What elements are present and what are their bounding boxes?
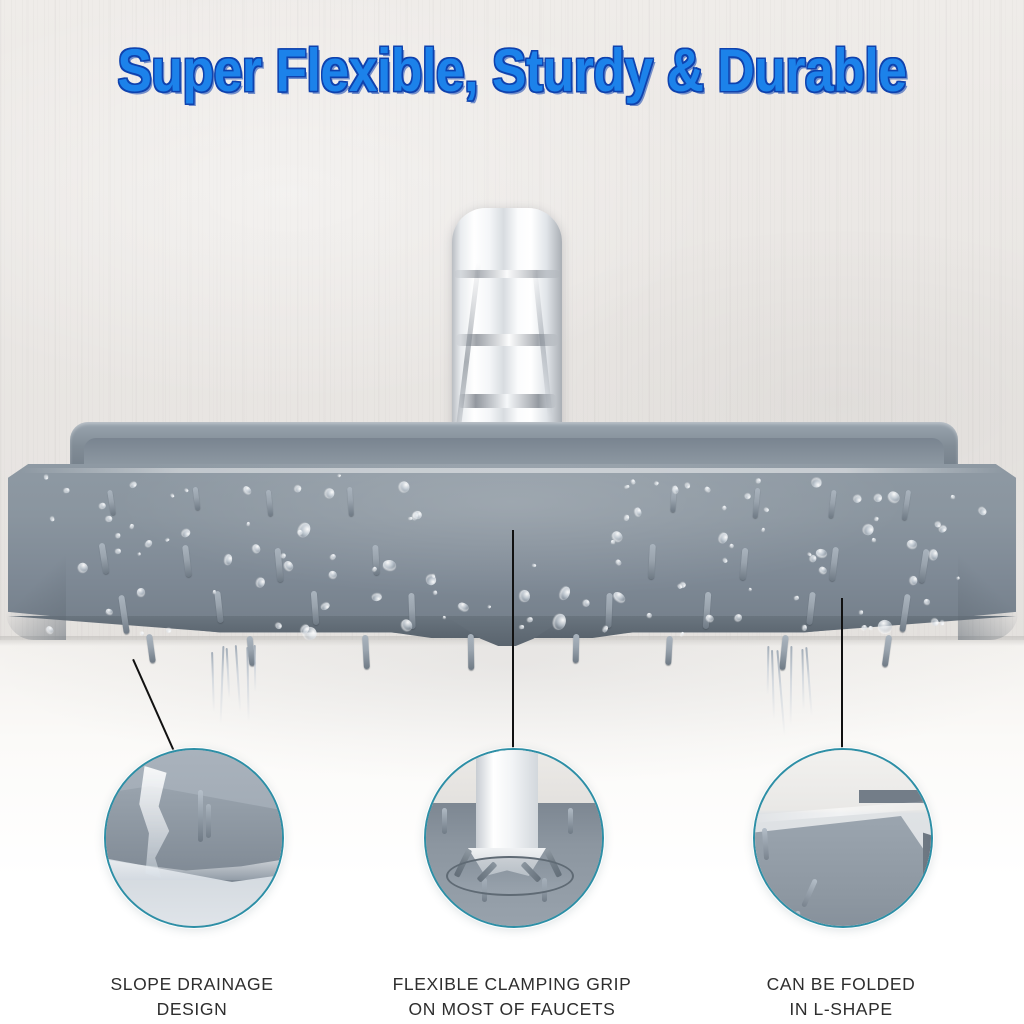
water-drip-stream (766, 646, 769, 695)
caption-slope-drainage: SLOPE DRAINAGE DESIGN (72, 972, 312, 1023)
water-droplet (117, 533, 121, 538)
water-droplet (583, 599, 590, 606)
callout-circle-folded-l-shape (753, 748, 933, 928)
callout1-nub (198, 790, 203, 842)
water-droplet (408, 516, 411, 519)
callout2-faucet-pipe (476, 750, 538, 858)
pointer-line-clamping-grip (512, 530, 514, 752)
water-droplet (957, 576, 960, 580)
mat-ridge-nub (468, 634, 475, 670)
caption-line: DESIGN (72, 997, 312, 1022)
caption-line: FLEXIBLE CLAMPING GRIP (372, 972, 652, 997)
infographic-canvas: Super Flexible, Sturdy & Durable (0, 0, 1024, 1024)
callout1-nub (206, 804, 211, 838)
mat-ridge-nub (572, 634, 579, 663)
caption-line: IN L-SHAPE (721, 997, 961, 1022)
mat-corner-left (6, 554, 66, 640)
callout-circle-slope-drainage (104, 748, 284, 928)
water-droplet (868, 625, 872, 629)
water-droplet (803, 624, 807, 630)
callout2-nub (442, 808, 447, 834)
caption-line: SLOPE DRAINAGE (72, 972, 312, 997)
caption-line: ON MOST OF FAUCETS (372, 997, 652, 1022)
water-droplet (939, 621, 943, 625)
water-droplet (116, 548, 121, 553)
mat-corner-right (958, 554, 1018, 640)
callout-circle-clamping-grip (424, 748, 604, 928)
pointer-line-folded-l-shape (841, 598, 843, 758)
water-droplet (861, 624, 868, 631)
water-droplet (611, 540, 615, 543)
water-droplet (414, 511, 422, 519)
callout2-nub (568, 808, 573, 834)
callout-image-folded-l-shape (755, 750, 931, 926)
water-droplet (812, 478, 822, 487)
water-droplet (65, 488, 70, 493)
caption-folded-l-shape: CAN BE FOLDED IN L-SHAPE (721, 972, 961, 1023)
mat-ridge-nub (362, 634, 370, 669)
water-droplet (166, 629, 171, 633)
callout2-clamp-collar (446, 856, 574, 896)
page-title: Super Flexible, Sturdy & Durable (72, 36, 953, 105)
caption-clamping-grip: FLEXIBLE CLAMPING GRIP ON MOST OF FAUCET… (372, 972, 652, 1023)
callout-image-clamping-grip (426, 750, 602, 926)
callout-image-slope-drainage (106, 750, 282, 926)
water-droplet (140, 631, 144, 636)
caption-line: CAN BE FOLDED (721, 972, 961, 997)
mat-top-highlight (20, 468, 1004, 473)
water-droplet (44, 476, 48, 480)
